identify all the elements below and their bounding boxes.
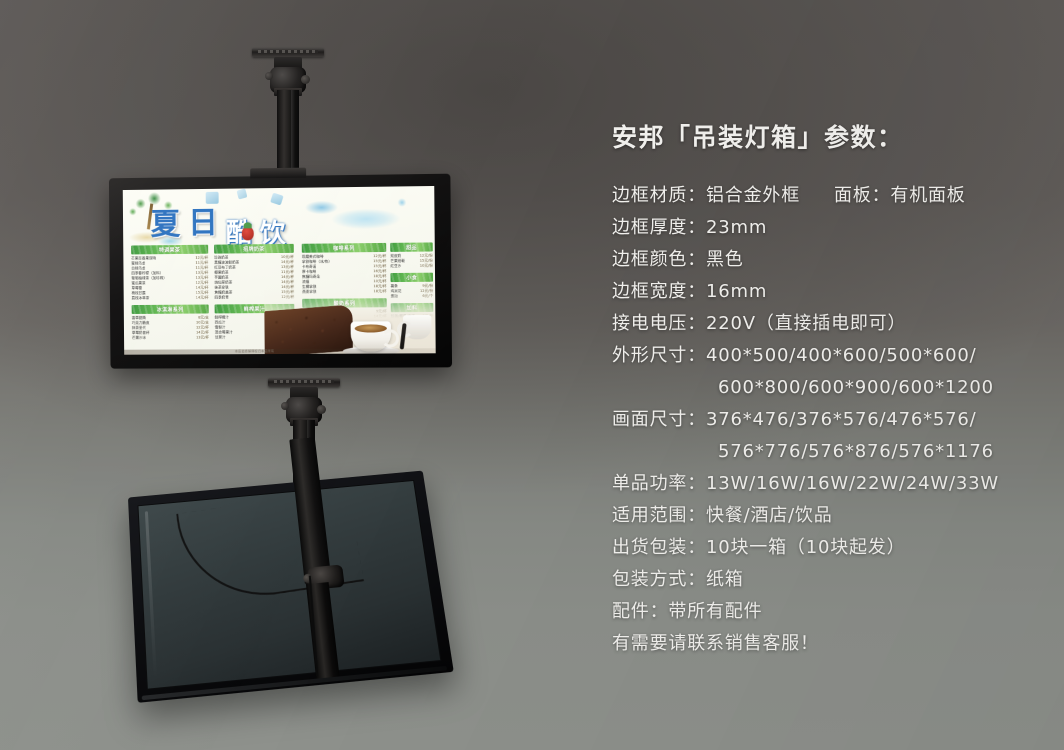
spec-line: 有需要请联系销售客服！ xyxy=(612,628,1042,660)
spec-panel: 安邦「吊装灯箱」参数： 边框材质：铝合金外框面板：有机面板边框厚度：23mm边框… xyxy=(612,118,1042,660)
menu-section: 冰淇淋系列香草甜筒8元/支巧克力脆皮10元/支抹茶圣代12元/杯草莓奶昔杯14元… xyxy=(132,305,209,341)
spec-line-extra: 面板：有机面板 xyxy=(834,185,966,206)
menu-title-char: 日 xyxy=(188,198,218,242)
spec-line-text: 包装方式：纸箱 xyxy=(612,569,744,590)
spec-line-text: 画面尺寸：376*476/376*576/476*576/ xyxy=(612,409,977,430)
power-cable xyxy=(176,490,364,608)
menu-section-title: 冰淇淋系列 xyxy=(157,306,184,313)
menu-item-name: 甘蔗汁 xyxy=(215,335,226,340)
spec-line-text: 边框材质：铝合金外框 xyxy=(612,185,800,206)
spec-line-text: 单品功率：13W/16W/16W/22W/24W/33W xyxy=(612,473,999,494)
menu-section-header: 招牌奶茶 xyxy=(214,244,294,254)
menu-title-char: 夏 xyxy=(150,199,180,243)
spec-line-text: 边框颜色：黑色 xyxy=(612,249,744,270)
spec-line: 边框厚度：23mm xyxy=(612,212,1042,244)
spec-line-text: 边框宽度：16mm xyxy=(612,281,767,302)
menu-item-name: 红豆沙 xyxy=(390,264,401,269)
spec-line: 600*800/600*900/600*1200 xyxy=(612,372,1042,404)
coffee-photo xyxy=(264,287,436,354)
menu-section: 特调果茶芒果百香果双响12元/杯蜜桃乌龙11元/杯白桃乌龙11元/杯四季春柠檬（… xyxy=(131,245,208,301)
menu-footer-note: 本店最终解释权归本店所有 xyxy=(235,349,274,353)
lightbox-back-panel xyxy=(137,480,441,690)
ceiling-plate-icon xyxy=(252,48,324,57)
spec-line: 边框颜色：黑色 xyxy=(612,244,1042,276)
spec-list: 边框材质：铝合金外框面板：有机面板边框厚度：23mm边框颜色：黑色边框宽度：16… xyxy=(612,180,1042,660)
spec-line: 画面尺寸：376*476/376*576/476*576/ xyxy=(612,404,1042,436)
spec-line-text: 适用范围：快餐/酒店/饮品 xyxy=(612,505,833,526)
spec-line-text: 576*776/576*876/576*1176 xyxy=(718,441,994,462)
product-spec-image: 夏 日 酷 饮 特调果茶芒果百香果双响12元/杯蜜桃乌龙11元/杯白桃乌龙11元… xyxy=(0,0,1064,750)
menu-section-title: 甜品 xyxy=(406,244,417,251)
lock-knob-icon xyxy=(265,72,273,80)
menu-section-title: 鲜榨果汁 xyxy=(244,305,266,312)
spec-line: 576*776/576*876/576*1176 xyxy=(612,436,1042,468)
spec-line-text: 600*800/600*900/600*1200 xyxy=(718,377,994,398)
spec-line-text: 有需要请联系销售客服！ xyxy=(612,633,819,654)
spec-line: 边框宽度：16mm xyxy=(612,276,1042,308)
spec-line: 单品功率：13W/16W/16W/22W/24W/33W xyxy=(612,468,1042,500)
spec-title: 安邦「吊装灯箱」参数： xyxy=(612,118,1042,154)
lock-knob-icon xyxy=(281,402,289,410)
product-photo: 夏 日 酷 饮 特调果茶芒果百香果双响12元/杯蜜桃乌龙11元/杯白桃乌龙11元… xyxy=(0,0,600,750)
coffee-beans-icon xyxy=(264,304,352,354)
ceiling-plate-icon xyxy=(268,378,340,387)
spec-line-text: 出货包装：10块一箱（10块起发） xyxy=(612,537,905,558)
menu-item-row: 红豆沙10元/份 xyxy=(390,264,433,269)
spec-line: 包装方式：纸箱 xyxy=(612,564,1042,596)
lightbox-front: 夏 日 酷 饮 特调果茶芒果百香果双响12元/杯蜜桃乌龙11元/杯白桃乌龙11元… xyxy=(109,174,452,369)
menu-item-row: 芒果沙冰13元/杯 xyxy=(132,335,209,340)
menu-section-title: 招牌奶茶 xyxy=(243,245,265,252)
menu-section-header: 甜品 xyxy=(390,242,433,251)
spec-line-text: 外形尺寸：400*500/400*600/500*600/ xyxy=(612,345,977,366)
menu-title: 夏 日 酷 饮 xyxy=(144,195,323,243)
menu-section-title: 咖啡系列 xyxy=(333,244,355,251)
menu-item-price: 10元/份 xyxy=(417,264,433,269)
lightbox-back xyxy=(128,471,454,703)
menu-section: 甜品双皮奶12元/份芒果班戟15元/份红豆沙10元/份 xyxy=(390,242,433,269)
menu-item-name: 四季奶青 xyxy=(215,295,229,300)
menu-section-header: 咖啡系列 xyxy=(302,243,386,253)
spec-line: 配件：带所有配件 xyxy=(612,596,1042,628)
spec-line: 边框材质：铝合金外框面板：有机面板 xyxy=(612,180,1042,212)
menu-section-header: 特调果茶 xyxy=(131,245,208,255)
menu-item-price: 14元/杯 xyxy=(193,296,209,301)
menu-section-header: 冰淇淋系列 xyxy=(132,305,209,314)
menu-footer-strip xyxy=(124,348,436,354)
menu-screen: 夏 日 酷 饮 特调果茶芒果百香果双响12元/杯蜜桃乌龙11元/杯白桃乌龙11元… xyxy=(123,186,436,355)
spec-line: 外形尺寸：400*500/400*600/500*600/ xyxy=(612,340,1042,372)
menu-section-title: 小食 xyxy=(406,274,417,281)
spec-line-text: 边框厚度：23mm xyxy=(612,217,767,238)
menu-item-price: 13元/杯 xyxy=(193,335,209,340)
menu-section-header: 小食 xyxy=(390,273,433,282)
spec-line: 出货包装：10块一箱（10块起发） xyxy=(612,532,1042,564)
spec-line: 适用范围：快餐/酒店/饮品 xyxy=(612,500,1042,532)
frame-highlight xyxy=(145,511,157,679)
menu-item-name: 荔枝冰萃茶 xyxy=(132,296,150,301)
mount-tab xyxy=(250,168,306,179)
menu-column: 特调果茶芒果百香果双响12元/杯蜜桃乌龙11元/杯白桃乌龙11元/杯四季春柠檬（… xyxy=(131,245,209,345)
spec-line-text: 配件：带所有配件 xyxy=(612,601,762,622)
coffee-cup-icon xyxy=(403,315,432,339)
menu-section-title: 特调果茶 xyxy=(159,246,180,253)
spec-line: 接电电压：220V（直接插电即可） xyxy=(612,308,1042,340)
berry-icon xyxy=(242,226,254,240)
menu-item-name: 芒果沙冰 xyxy=(132,336,146,341)
spec-line-text: 接电电压：220V（直接插电即可） xyxy=(612,313,906,334)
menu-item-row: 荔枝冰萃茶14元/杯 xyxy=(132,296,209,302)
